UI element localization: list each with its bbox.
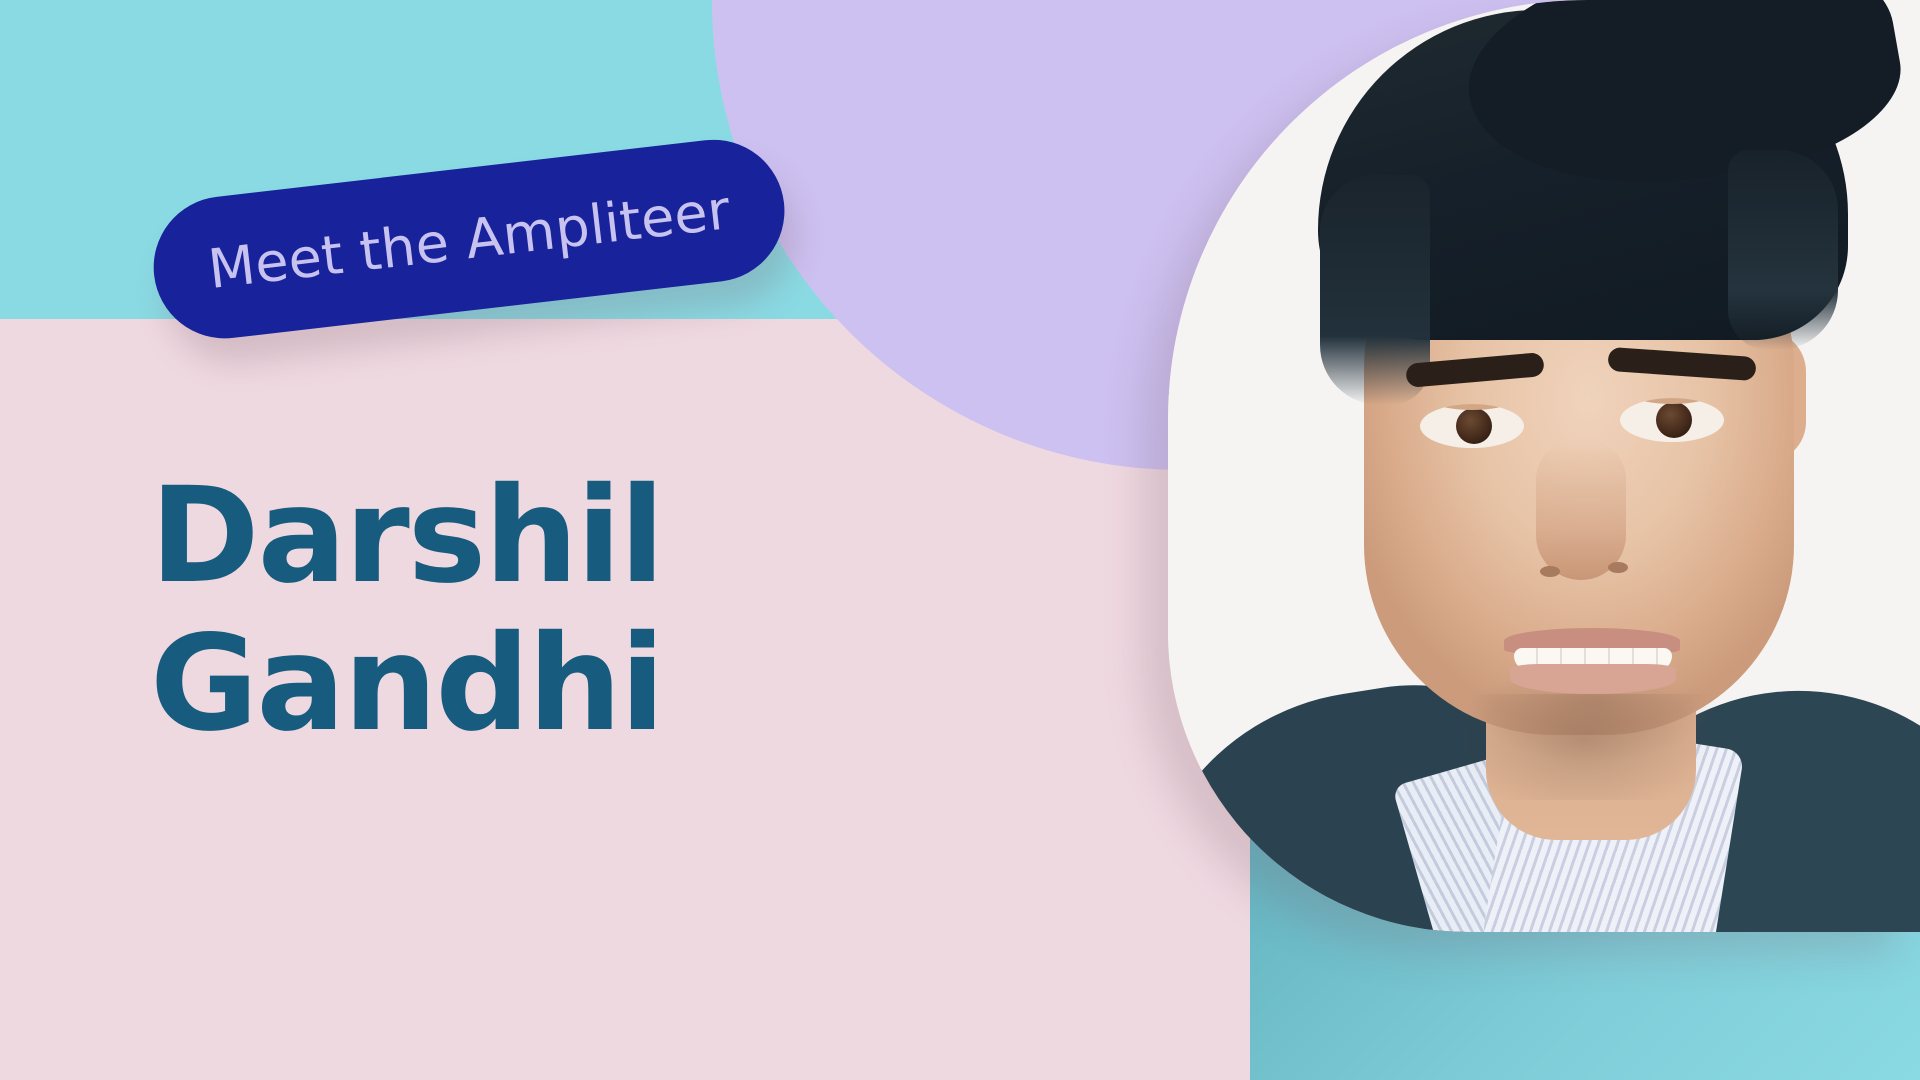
chin-shadow (1468, 694, 1718, 764)
eye-right (1620, 398, 1724, 442)
portrait-image (1168, 0, 1920, 932)
nose (1536, 440, 1626, 580)
badge-label: Meet the Ampliteer (205, 178, 733, 301)
iris-right (1656, 402, 1692, 438)
person-name: Darshil Gandhi (150, 462, 663, 758)
portrait-card (1168, 0, 1920, 932)
person-first-name: Darshil (150, 462, 663, 610)
nostril-left (1540, 566, 1560, 577)
hair-sideburn-right (1728, 150, 1838, 350)
banner-canvas: Meet the Ampliteer Darshil Gandhi (0, 0, 1920, 1080)
lower-lip (1510, 664, 1676, 694)
person-last-name: Gandhi (150, 610, 663, 758)
eye-left (1420, 404, 1524, 448)
nostril-right (1608, 562, 1628, 573)
iris-left (1456, 408, 1492, 444)
